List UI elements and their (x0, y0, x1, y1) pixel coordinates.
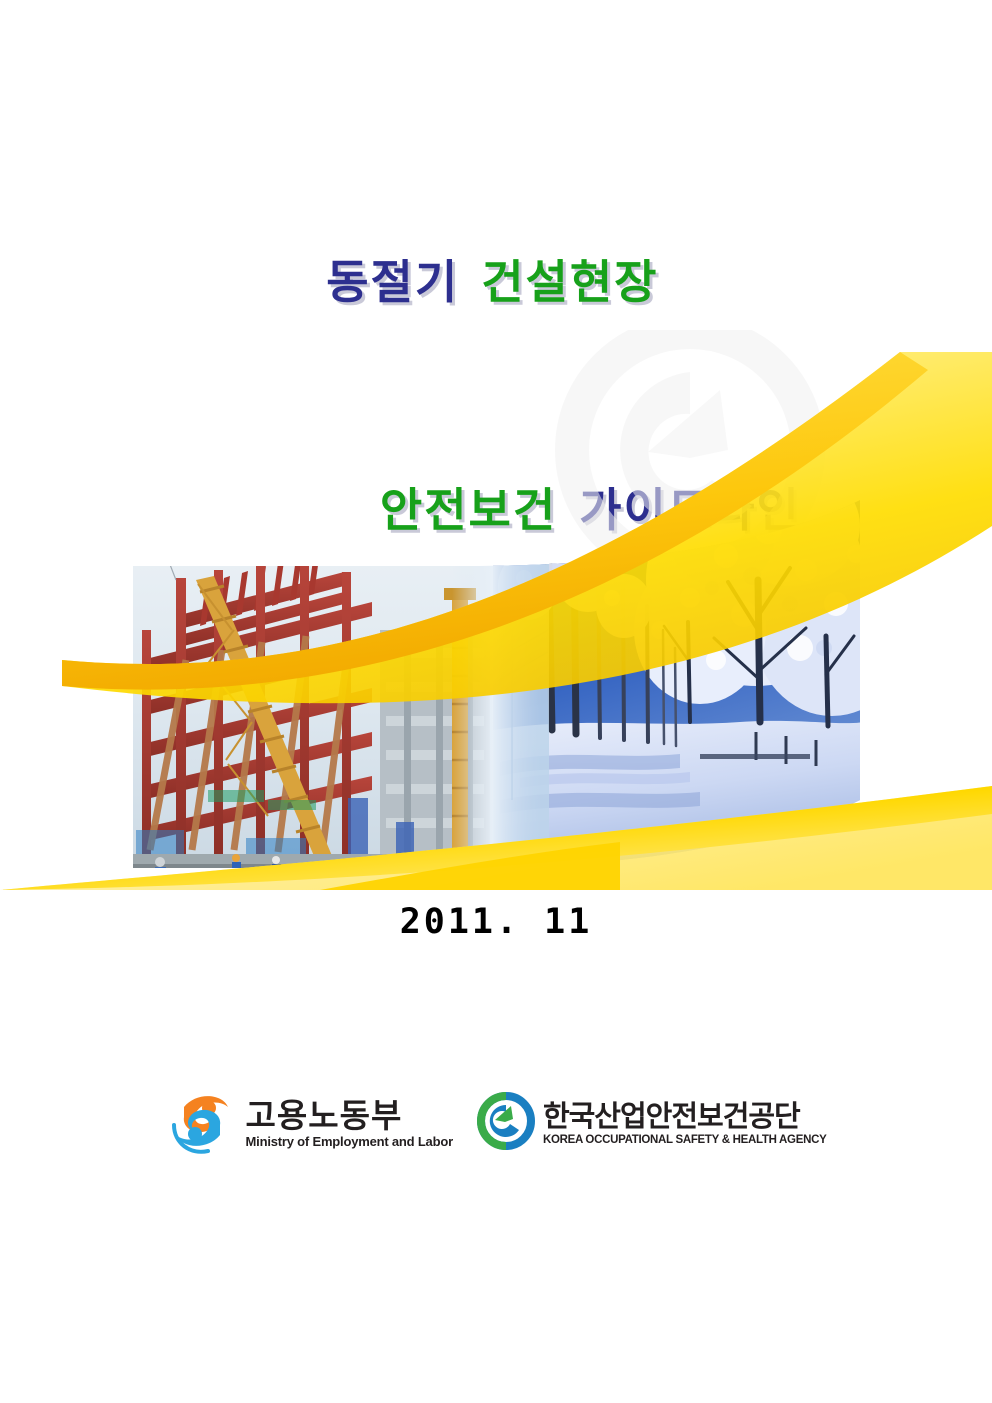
cover-hero-graphic (0, 330, 992, 890)
moel-korean-name: 고용노동부 (246, 1098, 453, 1134)
moel-logo-text: 고용노동부 Ministry of Employment and Labor (246, 1098, 453, 1149)
moel-swirl-icon (166, 1085, 238, 1162)
kosha-circle-icon (477, 1092, 535, 1155)
date-text: 2011. 11 (400, 902, 593, 942)
kosha-english-name: KOREA OCCUPATIONAL SAFETY & HEALTH AGENC… (543, 1133, 827, 1147)
moel-english-name: Ministry of Employment and Labor (246, 1134, 453, 1149)
kosha-logo: 한국산업안전보건공단 KOREA OCCUPATIONAL SAFETY & H… (477, 1092, 827, 1155)
hero-illustration (0, 330, 992, 890)
title-word-dongjeolgi: 동절기 (326, 256, 459, 308)
document-cover-page: 동절기건설현장 안전보건가이드라인 (0, 0, 992, 1403)
publication-date: 2011. 11 (0, 902, 992, 942)
kosha-korean-name: 한국산업안전보건공단 (543, 1101, 827, 1133)
kosha-logo-text: 한국산업안전보건공단 KOREA OCCUPATIONAL SAFETY & H… (543, 1101, 827, 1147)
footer-logo-row: 고용노동부 Ministry of Employment and Labor 한… (0, 1085, 992, 1162)
moel-logo: 고용노동부 Ministry of Employment and Labor (166, 1085, 453, 1162)
title-word-geonseolhyeonjang: 건설현장 (481, 256, 658, 308)
